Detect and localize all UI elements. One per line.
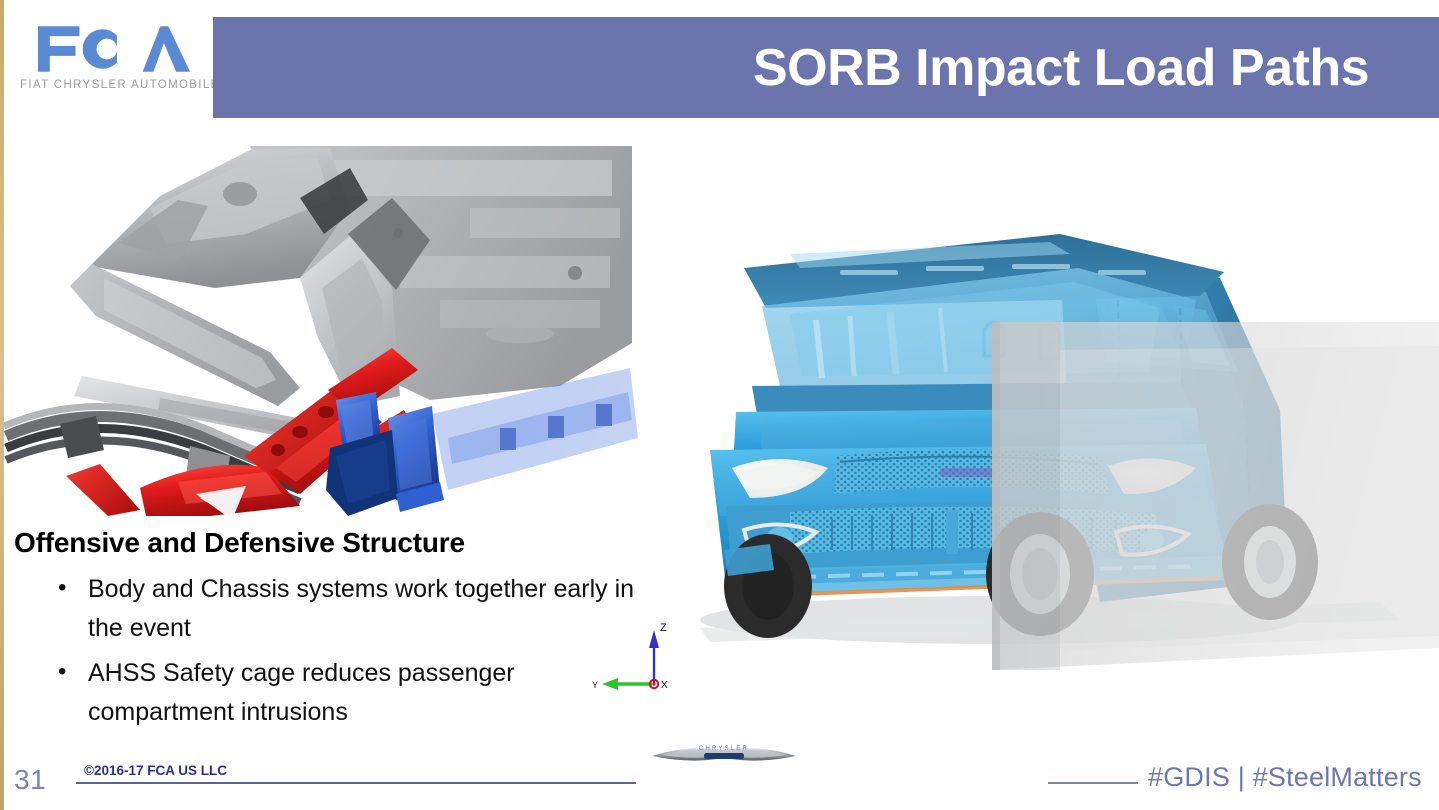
copyright-text: ©2016-17 FCA US LLC xyxy=(84,763,227,778)
footer-rule-left xyxy=(76,782,636,784)
title-band: SORB Impact Load Paths xyxy=(213,17,1439,118)
fca-logo: FIAT CHRYSLER AUTOMOBILES xyxy=(20,22,205,107)
fca-tagline: FIAT CHRYSLER AUTOMOBILES xyxy=(20,79,205,91)
list-item: • Body and Chassis systems work together… xyxy=(40,570,640,648)
slide-canvas: FIAT CHRYSLER AUTOMOBILES SORB Impact Lo… xyxy=(0,0,1439,810)
bullet-text: AHSS Safety cage reduces passenger compa… xyxy=(88,659,515,726)
section-headline: Offensive and Defensive Structure xyxy=(14,527,465,559)
axis-label-x: X xyxy=(661,680,668,691)
front-structure-cad-image xyxy=(0,138,640,516)
chrysler-wordmark: CHRYSLER xyxy=(699,746,749,752)
chrysler-emblem-icon: CHRYSLER xyxy=(650,740,798,766)
bullet-text: Body and Chassis systems work together e… xyxy=(88,575,634,642)
axis-label-z: Z xyxy=(660,622,667,634)
footer-rule-right xyxy=(1048,782,1138,784)
page-title: SORB Impact Load Paths xyxy=(753,42,1439,94)
fca-wordmark-icon xyxy=(36,22,194,74)
bullet-glyph: • xyxy=(58,569,66,606)
bullet-list: • Body and Chassis systems work together… xyxy=(40,570,640,738)
page-number: 31 xyxy=(14,764,46,796)
minivan-sorb-barrier-image xyxy=(640,150,1439,670)
list-item: • AHSS Safety cage reduces passenger com… xyxy=(40,654,640,732)
footer-hashtags: #GDIS | #SteelMatters xyxy=(1148,762,1422,793)
bullet-glyph: • xyxy=(58,653,66,690)
